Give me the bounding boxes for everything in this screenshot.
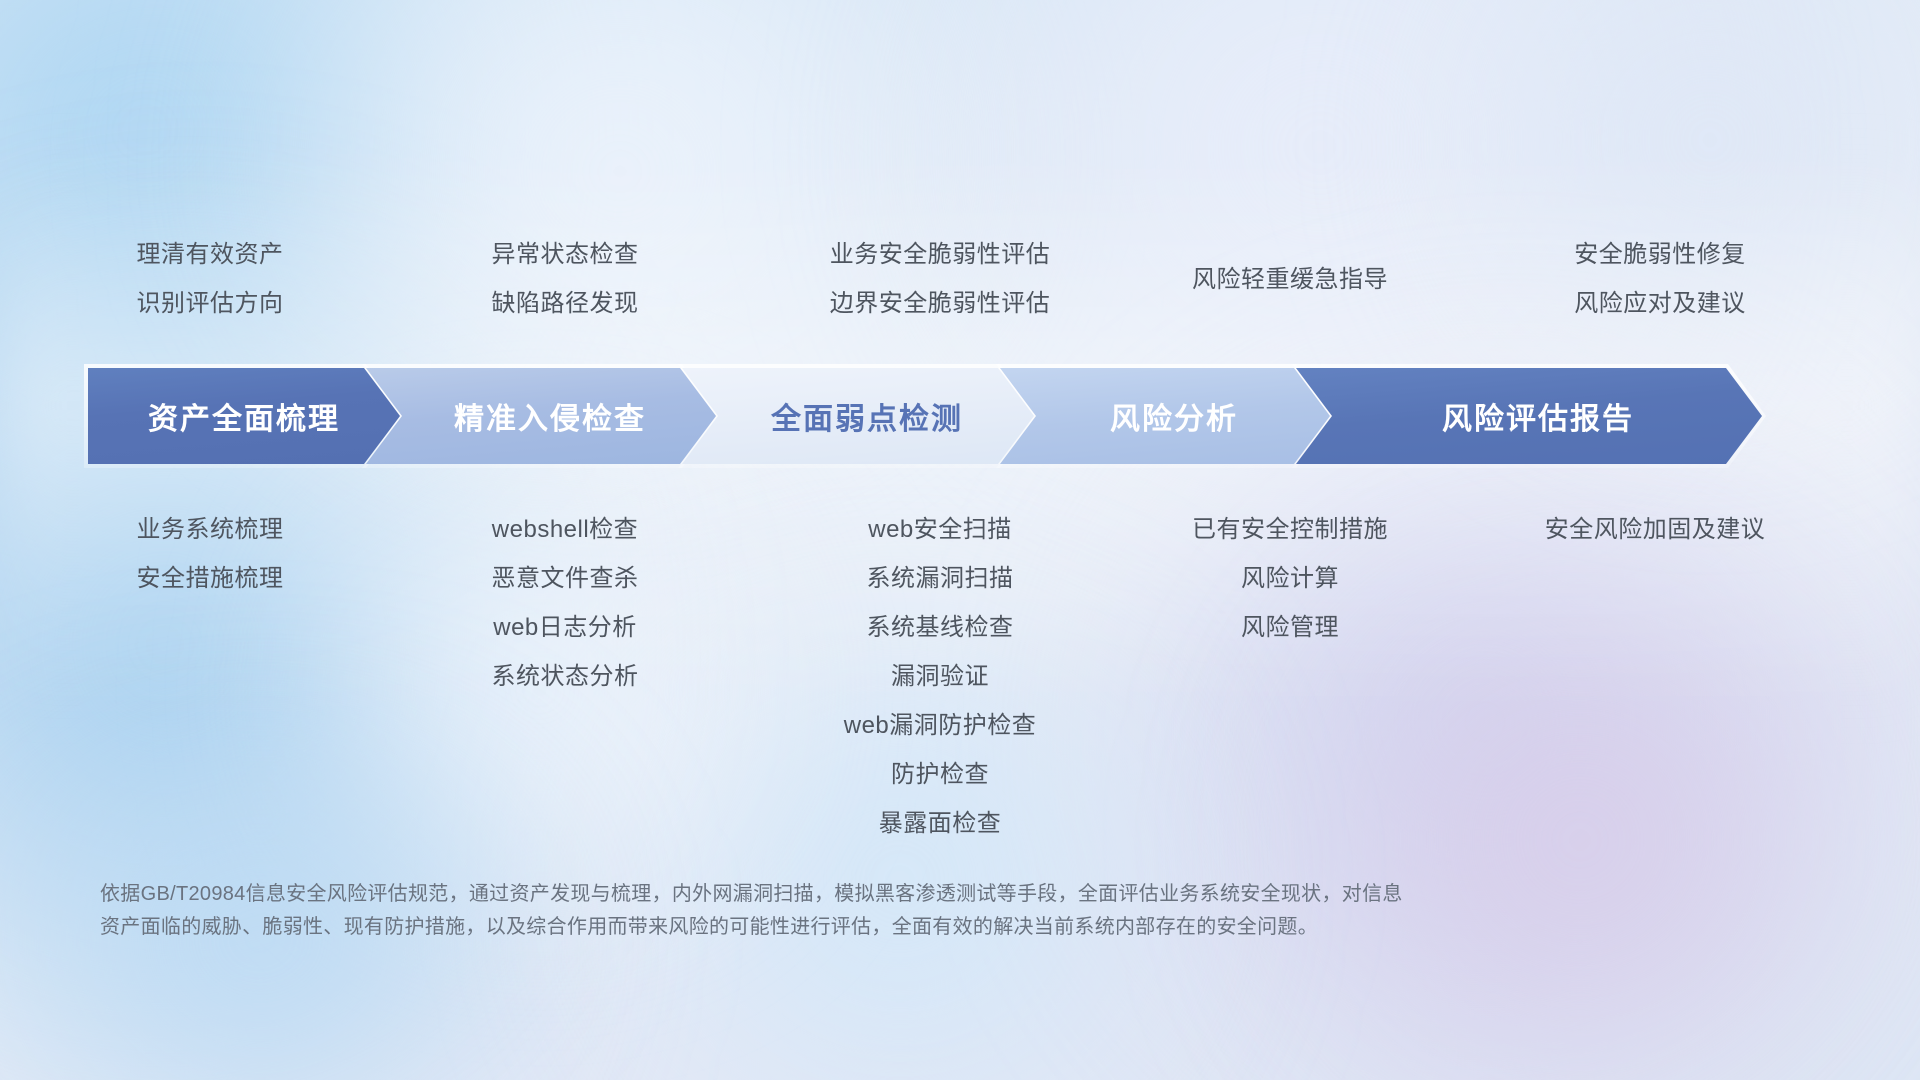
stage-above-list-3: 业务安全脆弱性评估 边界安全脆弱性评估 [760,230,1120,328]
stage-below-list-5: 安全风险加固及建议 [1455,505,1855,554]
stage-below-item: webshell检查 [405,505,725,554]
stage-below-item: 防护检查 [760,750,1120,799]
stage-below-item: 已有安全控制措施 [1120,505,1460,554]
stage-below-item: 安全措施梳理 [50,554,370,603]
stage-above-item: 缺陷路径发现 [405,279,725,328]
stage-chevron-asset-inventory[interactable]: 资产全面梳理 [88,368,400,464]
stage-below-item: 系统状态分析 [405,652,725,701]
stage-below-item: 风险计算 [1120,554,1460,603]
stage-below-item: 风险管理 [1120,603,1460,652]
stage-label: 风险分析 [1092,394,1238,438]
stage-above-item: 安全脆弱性修复 [1490,230,1830,279]
process-diagram: 理清有效资产 识别评估方向 异常状态检查 缺陷路径发现 业务安全脆弱性评估 边界… [0,0,1920,1080]
stage-below-item: 业务系统梳理 [50,505,370,554]
stage-below-item: 系统漏洞扫描 [760,554,1120,603]
stage-chevron-weakness-detection[interactable]: 全面弱点检测 [682,368,1034,464]
stage-below-item: 安全风险加固及建议 [1455,505,1855,554]
stage-below-list-4: 已有安全控制措施 风险计算 风险管理 [1120,505,1460,652]
stage-label: 全面弱点检测 [753,394,963,438]
stage-below-item: web漏洞防护检查 [760,701,1120,750]
stage-chevron-intrusion-check[interactable]: 精准入侵检查 [366,368,716,464]
stage-above-item: 理清有效资产 [50,230,370,279]
stage-above-item: 风险轻重缓急指导 [1125,255,1455,304]
stage-label: 精准入侵检查 [436,394,646,438]
stage-below-item: 系统基线检查 [760,603,1120,652]
stage-label: 风险评估报告 [1424,394,1634,438]
stage-below-item: web安全扫描 [760,505,1120,554]
footnote: 依据GB/T20984信息安全风险评估规范，通过资产发现与梳理，内外网漏洞扫描，… [100,878,1630,944]
stage-chevron-risk-analysis[interactable]: 风险分析 [1000,368,1330,464]
stage-chevron-band: 资产全面梳理 精准入侵检查 全面弱点检测 风险分析 风险评估报告 [88,368,1834,464]
stage-above-item: 风险应对及建议 [1490,279,1830,328]
stage-chevron-risk-report[interactable]: 风险评估报告 [1296,368,1762,464]
stage-below-list-3: web安全扫描 系统漏洞扫描 系统基线检查 漏洞验证 web漏洞防护检查 防护检… [760,505,1120,848]
stage-above-item: 异常状态检查 [405,230,725,279]
stage-below-list-2: webshell检查 恶意文件查杀 web日志分析 系统状态分析 [405,505,725,701]
stage-above-list-5: 安全脆弱性修复 风险应对及建议 [1490,230,1830,328]
stage-above-list-4: 风险轻重缓急指导 [1125,255,1455,304]
stage-above-item: 边界安全脆弱性评估 [760,279,1120,328]
stage-above-item: 业务安全脆弱性评估 [760,230,1120,279]
stage-below-item: 暴露面检查 [760,799,1120,848]
stage-above-list-2: 异常状态检查 缺陷路径发现 [405,230,725,328]
footnote-line-2: 资产面临的威胁、脆弱性、现有防护措施，以及综合作用而带来风险的可能性进行评估，全… [100,911,1630,944]
stage-below-item: 漏洞验证 [760,652,1120,701]
stage-below-list-1: 业务系统梳理 安全措施梳理 [50,505,370,603]
stage-label: 资产全面梳理 [148,394,340,438]
stage-above-item: 识别评估方向 [50,279,370,328]
stage-below-item: web日志分析 [405,603,725,652]
stage-above-list-1: 理清有效资产 识别评估方向 [50,230,370,328]
stage-below-item: 恶意文件查杀 [405,554,725,603]
footnote-line-1: 依据GB/T20984信息安全风险评估规范，通过资产发现与梳理，内外网漏洞扫描，… [100,878,1630,911]
